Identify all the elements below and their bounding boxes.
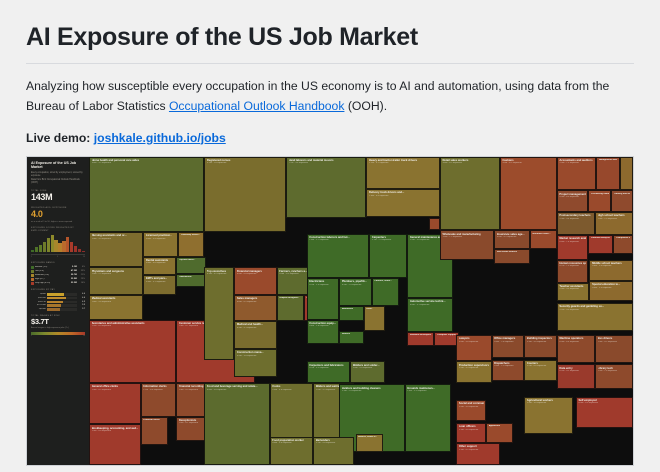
treemap-tile[interactable]: Other support0.3M · 6.2 exposure [456,443,500,465]
pay-bracket-label: >$100K [31,308,46,311]
legend-percent: 23% [78,278,85,281]
treemap-tile[interactable]: Security guards and gambling su...1.2M ·… [557,303,633,331]
treemap-tile-sublabel: 0.7M · 7.0 exposure [559,265,585,268]
treemap-tile-sublabel: 1.4M · 7.3 exposure [559,162,593,165]
color-scale-axis: 110 [31,335,85,338]
treemap-tile-label: Training and dev... [614,193,631,196]
treemap-tile-sublabel: 1.3M · 3.4 exposure [559,218,592,221]
legend-row[interactable]: Low (3-4)47.3M33% [31,270,85,273]
live-demo-line: Live demo: joshkale.github.io/jobs [26,131,634,145]
treemap-tile-sublabel: 1.6M · 4.9 exposure [369,195,437,198]
treemap-tile-sublabel: 4.0M · 5.8 exposure [207,389,267,392]
histogram-tick: 10 [83,256,85,259]
legend-swatch [31,266,34,269]
legend-row[interactable]: Minimal (1-2)9.1M6% [31,266,85,269]
treemap-tile-sublabel: 1.0M · 2.7 exposure [309,239,366,242]
treemap-tile-sublabel: 1.9M · 8.2 exposure [92,389,138,392]
legend-swatch [31,270,34,273]
pay-bracket-label: $75-100K [31,304,46,307]
total-jobs-value: 143M [31,193,85,202]
treemap-tile-label: Pharmacists [179,276,204,279]
exposure-by-pay-chart: <$30K4.4$30-50K4.6$50-75K4.3$75-100K3.9>… [31,293,85,311]
legend-swatch [31,278,34,281]
treemap-tile[interactable]: Market research analyst0.8M · 7.8 exposu… [557,235,589,260]
treemap-tile[interactable]: Wholesale and manufacturing1.6M · 7.2 ex… [440,230,494,259]
treemap-tile[interactable]: Real estate brokers0.4M · 6.8 exposure [494,249,529,264]
treemap-tile[interactable]: Purchasing manager0.6M · 7.1 exposure [588,190,611,212]
treemap-tile-label: Securities sales... [532,233,554,236]
treemap-tile-sublabel: 0.8M · 7.8 exposure [559,241,585,244]
pay-bar-row: >$100K3.7 [31,308,85,311]
readme-page: AI Exposure of the US Job Market Analyzi… [0,0,660,472]
treemap-tile-sublabel: 0.5M · 2.4 exposure [342,284,369,287]
pay-bar-track [47,301,77,304]
treemap-tile[interactable]: Sales managers0.6M · 6.2 exposure [234,295,276,321]
treemap-tile-sublabel: 0.3M · 3.1 exposure [146,281,173,284]
treemap-tile-label: Software developers [410,334,432,337]
treemap-tile-label: Graphic designers [279,297,301,300]
treemap-tile[interactable]: Postsecondary teachers1.3M · 3.4 exposur… [557,212,595,235]
histogram-bar [82,251,85,253]
treemap-tile[interactable]: Production supervisors0.5M · 5.5 exposur… [456,361,491,383]
treemap-tile-sublabel: 0.2M · 9.2 exposure [559,370,592,373]
histogram-bar [66,237,69,252]
treemap-tile-sublabel: 3.2M · 2.8 exposure [207,162,283,165]
exposure-legend: Minimal (1-2)9.1M6%Low (3-4)47.3M33%Mode… [31,266,85,285]
treemap-tile[interactable]: Construction laborers and hel...1.0M · 2… [307,234,370,279]
treemap-tile-sublabel: 3.6M · 6.2 exposure [442,162,497,165]
treemap-tile[interactable]: Registered nurses3.2M · 2.8 exposure [204,157,286,232]
treemap-tile-sublabel: 2.5M · 4.6 exposure [272,389,310,392]
treemap-tile-sublabel: 0.3M · 6.2 exposure [459,449,497,452]
treemap-tile[interactable]: Grounds maintenan...1.3M · 2.2 exposure [405,384,451,452]
treemap-tile-sublabel: 0.7M · 5.2 exposure [309,367,347,370]
treemap-tile[interactable]: Carpenters0.7M · 2.5 exposure [369,234,407,279]
histogram-bar [62,241,65,253]
treemap-canvas[interactable]: Home health and personal care aides3.6M … [89,157,633,465]
treemap-tile[interactable]: Loan officers0.3M · 8.0 exposure [456,423,486,443]
treemap-tile-sublabel: 0.4M · 4.4 exposure [353,367,383,370]
treemap-tile-label: Computer support [437,334,456,337]
legend-row[interactable]: Moderate (5-6)29.7M21% [31,274,85,277]
treemap-tile-label: Roofers [342,333,361,336]
treemap-tile-sublabel: 1.6M · 7.2 exposure [442,236,491,239]
histogram-tick: 1 [31,256,32,259]
treemap-tile[interactable]: Construction mana...0.5M · 3.8 exposure [234,349,276,377]
treemap-tile[interactable]: Tree associates0.3M · 5.2 exposure [429,218,440,230]
treemap-tile-sublabel: 0.2M · 6.0 exposure [527,365,554,368]
treemap-tile-sublabel: 0.4M · 4.6 exposure [146,262,173,265]
treemap-tile[interactable]: Bus drivers0.5M · 4.2 exposure [595,335,633,363]
treemap-tile-sublabel: 0.8M · 6.8 exposure [237,273,274,276]
treemap-tile[interactable]: Food and beverage serving and relate...4… [204,383,269,465]
treemap-tile-sublabel: 2.2M · 5.1 exposure [369,162,437,165]
legend-label-text: Minimal (1-2) [35,266,71,269]
exposure-histogram [31,235,85,255]
treemap-tile-sublabel: 0.4M · 2.8 exposure [309,325,336,328]
treemap-tile-sublabel: 1.3M · 2.2 exposure [407,390,448,393]
treemap-tile-sublabel: 0.9M · 3.2 exposure [279,273,306,276]
treemap-tile[interactable]: Social and community...0.4M · 4.4 exposu… [456,400,486,422]
treemap-tile-label: Social and community... [459,402,484,405]
treemap-tile[interactable]: HVAC0.4M · 2.9 exposure [364,306,386,331]
legend-swatch [31,274,34,277]
ooh-link[interactable]: Occupational Outlook Handbook [169,99,344,113]
histogram-bar [70,242,73,252]
treemap-tile-sublabel: 0.5M · 7.8 exposure [494,341,521,344]
treemap-tile[interactable]: EMTs and para...0.3M · 3.1 exposure [143,275,176,295]
treemap-tile-label: Machinists [342,308,361,311]
treemap-tile-label: HVAC [366,308,383,311]
treemap-tile-sublabel: 0.3M · 8.0 exposure [459,429,484,432]
treemap-tile[interactable]: Electricians0.7M · 2.3 exposure [307,278,340,320]
color-scale-tick: 10 [83,335,85,338]
treemap-tile[interactable]: Carpenters and fabricators0.7M · 5.2 exp… [307,361,351,383]
treemap-tile[interactable]: Financial managers0.8M · 6.8 exposure [234,267,276,295]
treemap-tile-sublabel: 0.7M · 4.8 exposure [316,442,352,445]
legend-percent: 21% [78,274,85,277]
treemap-tile[interactable]: Accountants and auditors1.4M · 7.3 expos… [557,157,596,191]
treemap-tile[interactable]: Physical thera...0.3M · 2.4 exposure [176,257,206,274]
treemap-tile[interactable]: Financial clerks0.9M · 8.3 exposure [141,417,168,445]
treemap-tile-label: Building inspectors [527,337,554,340]
legend-value: 29.7M [71,274,77,277]
treemap-tile-sublabel: 2.3M · 2.4 exposure [342,390,402,393]
treemap-tile-label: Compliance office [616,237,630,240]
color-scale-tick: 1 [31,335,32,338]
treemap-tile-sublabel: 0.4M · 4.4 exposure [459,406,484,409]
treemap-tile[interactable]: Human resources spec...0.7M · 7.0 exposu… [557,260,589,283]
pay-bar-row: $30-50K4.6 [31,297,85,300]
treemap-tile-sublabel: 1.0M · 8.1 exposure [179,422,206,425]
treemap-tile-sublabel: 2.2M · 8.4 exposure [92,325,174,328]
treemap-tile[interactable]: Retail sales workers3.6M · 6.2 exposure [440,157,500,231]
page-description: Analyzing how susceptible every occupati… [26,77,634,117]
pay-bracket-label: <$30K [31,293,46,296]
treemap-tile[interactable]: Financial analysts0.4M · 7.6 exposure [588,235,613,253]
treemap-tile-sublabel: 0.4M · 6.6 exposure [559,341,592,344]
pay-bar-fill [47,304,61,307]
treemap-tile[interactable]: Software developers1.8M · 5.9 exposure [407,332,434,346]
pay-label: EXPOSURE BY PAY [31,289,85,292]
legend-label-text: Low (3-4) [35,270,70,273]
treemap-tile[interactable]: Lawyers0.8M · 5.8 exposure [456,335,491,361]
treemap-tile[interactable]: Appraisers0.1M · 7.4 exposure [486,423,513,443]
treemap-tile[interactable]: Automotive service techni...0.8M · 3.1 e… [407,298,453,332]
pay-bar-value: 4.3 [78,301,85,304]
treemap-tile[interactable]: Dental assistants0.4M · 4.6 exposure [143,257,176,275]
treemap-tile[interactable]: Building inspectors0.3M · 4.0 exposure [524,335,557,358]
pay-bar-track [47,293,77,296]
treemap-tile-sublabel: 0.6M · 2.8 exposure [592,265,630,268]
sidebar-subtitle-1: Every occupation, sized by employment, s… [31,172,85,179]
legend-row[interactable]: High (6-7)33.5M23% [31,278,85,281]
treemap-tile[interactable]: Graphic designers0.3M · 7.3 exposure [277,295,304,321]
treemap-tile-sublabel: 0.4M · 6.4 exposure [578,402,630,405]
treemap-tile-label: Physical thera... [179,259,204,262]
title-divider [26,63,634,64]
treemap-tile[interactable]: Roofers0.2M · 2.2 exposure [339,331,363,345]
treemap-tile-sublabel: 0.6M · 6.2 exposure [237,301,274,304]
treemap-tile[interactable]: Bookkeeping, accounting, and aud...1.5M … [89,424,141,464]
histogram-bar [78,249,81,252]
treemap-tile-label: Pharmacy techni... [181,234,202,237]
treemap-tile-label: Real estate brokers [497,251,527,254]
pay-bar-fill [47,297,66,300]
treemap-tile[interactable]: Medical and health...0.5M · 4.1 exposure [234,321,276,349]
histogram-bar [39,245,42,252]
histogram-bar [74,246,77,252]
treemap-tile[interactable]: Special education te...0.5M · 2.9 exposu… [589,281,633,301]
treemap-tile-sublabel: 0.3M · 4.0 exposure [527,341,554,344]
treemap-tile[interactable]: Information clerks1.1M · 8.0 exposure [141,383,176,417]
treemap-tile-sublabel: 3.5M · 4.2 exposure [207,273,232,276]
treemap-tile[interactable]: Cashiers3.3M · 8.1 exposure [500,157,557,231]
treemap-tile[interactable]: Securities sales...0.5M · 7.6 exposure [530,230,557,248]
treemap-tile[interactable]: Farmers, ranchers a...0.9M · 3.2 exposur… [277,267,310,295]
sidebar-subtitle-2: Data from BLS Occupational Outlook Handb… [31,179,85,186]
treemap-tile[interactable]: Management analysts1.0M · 6.4 exposure [596,157,620,191]
wages-value: $3.7T [31,318,85,326]
treemap-tile[interactable]: Secretaries and administrative assistant… [89,320,176,383]
pay-bar-track [47,297,77,300]
treemap-tile-label: Appraisers [489,425,511,428]
treemap-tile-label: Painters, const... [374,280,396,283]
pay-bar-row: <$30K4.4 [31,293,85,296]
treemap-tile-label: Financial analysts [591,237,611,240]
pay-bracket-label: $30-50K [31,297,46,300]
treemap-tile-sublabel: 3.3M · 8.1 exposure [502,162,554,165]
legend-value: 9.1M [72,266,77,269]
treemap-tile[interactable]: Hand laborers and material movers2.7M · … [286,157,367,219]
treemap-tile[interactable]: Bartenders0.7M · 4.8 exposure [313,437,354,465]
pay-bar-track [47,308,77,311]
pay-bar-fill [47,301,63,304]
treemap-tile[interactable]: Insurance sales age...0.6M · 8.2 exposur… [494,230,529,248]
legend-percent: 6% [78,266,85,269]
treemap-tile[interactable]: Heavy and tractor-trailer truck drivers2… [366,157,439,189]
treemap-tile[interactable]: General office clerks1.9M · 8.2 exposure [89,383,141,425]
legend-value: 33.5M [71,278,77,281]
treemap-tile-sublabel: 0.8M · 5.6 exposure [92,301,141,304]
legend-label-text: High (6-7) [35,278,70,281]
treemap-tile-label: Market research analyst [559,237,585,240]
pay-bar-value: 3.9 [78,304,85,307]
treemap-tile[interactable]: Painters, const...0.3M · 2.6 exposure [372,278,399,306]
treemap-tile[interactable]: Physicians and surgeons0.8M · 2.2 exposu… [89,267,143,295]
pay-bar-track [47,304,77,307]
legend-row[interactable]: Very high (8-10)23.3M16% [31,282,85,285]
treemap-tile[interactable]: Pharmacists0.3M · 5.4 exposure [176,274,206,288]
avg-exposure-value: 4.0 [31,210,85,219]
treemap-tile[interactable]: Delivery truck drivers and...1.6M · 4.9 … [366,189,439,217]
treemap-tile[interactable]: Licensed practical...0.6M · 3.4 exposure [143,232,178,257]
treemap-tile-label: Management analysts [599,159,618,162]
treemap-tile-sublabel: 0.9M · 3.4 exposure [527,402,571,405]
avg-exposure-note: on a scale of 1 to 10, higher = more exp… [31,221,85,224]
treemap-tile[interactable]: Library tech0.1M · 7.8 exposure [595,364,633,389]
treemap-tile[interactable]: Teacher assistants1.4M · 3.5 exposure [557,283,590,301]
treemap-tile[interactable]: Welders and solder...0.4M · 4.4 exposure [350,361,385,383]
treemap-tile[interactable]: Pharmacy techni...0.5M · 5.8 exposure [178,232,204,257]
live-demo-label: Live demo: [26,131,94,145]
treemap-tile[interactable]: Plumbers, pipefitt...0.5M · 2.4 exposure [339,278,372,306]
treemap-tile-label: Waiters, cooks a... [358,436,380,439]
treemap-tile-sublabel: 0.5M · 4.1 exposure [237,327,274,330]
treemap-tile[interactable]: Couriers0.2M · 6.0 exposure [524,360,557,382]
histogram-label: EXPOSURE SCORE WEIGHTED BY EMPLOYMENT [31,227,85,233]
treemap-tile[interactable]: Food preparation worker0.9M · 5.6 exposu… [270,437,314,465]
pay-bar-fill [47,293,64,296]
treemap-tile-sublabel: 1.4M · 3.5 exposure [559,288,586,291]
treemap-sidebar: AI Exposure of the US Job Market Every o… [27,157,89,465]
treemap-tile-sublabel: 2.7M · 5.4 exposure [289,162,364,165]
treemap-tile[interactable]: Compliance office0.4M · 7.4 exposure [613,235,633,253]
treemap-tile-label: Purchasing manager [591,193,609,196]
treemap-tile-sublabel: 1.4M · 3.0 exposure [92,238,141,241]
pay-bar-value: 4.6 [78,297,85,300]
treemap-tile[interactable]: Agricultural workers0.9M · 3.4 exposure [524,397,573,434]
treemap-tile[interactable]: Medical assistants0.8M · 5.6 exposure [89,295,143,320]
treemap-tile-sublabel: 0.5M · 3.8 exposure [237,355,274,358]
histogram-bar [51,235,54,252]
legend-label-text: Very high (8-10) [35,282,70,285]
pay-bar-value: 4.4 [78,293,85,296]
legend-percent: 16% [78,282,85,285]
legend-label-text: Moderate (5-6) [35,274,70,277]
treemap-tile-sublabel: 0.8M · 5.8 exposure [459,341,489,344]
treemap-tile[interactable]: Kindergarten and element...1.4M · 2.6 ex… [620,157,633,191]
treemap-tile-sublabel: 0.7M · 2.5 exposure [372,239,405,242]
treemap-tile-sublabel: 0.9M · 5.6 exposure [272,442,310,445]
legend-value: 23.3M [71,282,77,285]
treemap-tile-sublabel: 0.6M · 8.2 exposure [497,236,527,239]
histogram-axis: 1510 [31,256,85,259]
treemap-tile[interactable]: Nursing assistants and or...1.4M · 3.0 e… [89,232,143,267]
pay-bracket-label: $50-75K [31,301,46,304]
histogram-bar [43,242,46,253]
treemap-tile[interactable]: Waiters, cooks a...0.4M · 5.0 exposure [356,434,383,452]
treemap-tile-sublabel: 0.5M · 4.2 exposure [598,341,631,344]
treemap-tile[interactable]: Home health and personal care aides3.6M … [89,157,204,232]
treemap-tile[interactable]: Top executives3.5M · 4.2 exposure [204,267,234,359]
treemap-tile[interactable]: Project management sp...0.9M · 6.0 expos… [557,190,589,212]
wages-note: Annual wages in high-exposure jobs (7+) [31,327,85,330]
pay-bar-value: 3.7 [78,308,85,311]
treemap-tile[interactable]: Office managers0.5M · 7.8 exposure [492,335,525,358]
treemap-tile[interactable]: Training and dev...0.4M · 6.2 exposure [611,190,633,212]
treemap-tile[interactable]: Machine operators0.4M · 6.6 exposure [557,335,595,363]
treemap-tile-sublabel: 1.2M · 4.0 exposure [559,309,630,312]
description-text-part2: (OOH). [344,99,387,113]
page-title: AI Exposure of the US Job Market [26,22,634,52]
legend-percent: 33% [78,270,85,273]
treemap-tile-sublabel: 1.1M · 8.0 exposure [143,389,173,392]
pay-bar-fill [47,308,60,311]
treemap-tile-sublabel: 0.9M · 6.0 exposure [559,196,585,199]
treemap-tile[interactable]: Data entry0.2M · 9.2 exposure [557,364,595,389]
treemap-tile[interactable]: Machinists0.3M · 4.2 exposure [339,306,363,321]
treemap-tile-sublabel: 0.5M · 2.9 exposure [592,287,630,290]
pay-bar-row: $75-100K3.9 [31,304,85,307]
histogram-bar [35,247,38,252]
treemap-tile-label: Postsecondary teachers [559,214,592,217]
histogram-bar [58,243,61,252]
live-demo-link[interactable]: joshkale.github.io/jobs [94,131,226,145]
treemap-tile[interactable]: Middle school teachers0.6M · 2.8 exposur… [589,260,633,282]
treemap-tile[interactable]: High school teachers1.0M · 2.9 exposure [595,212,633,235]
legend-label: EXPOSURE BANDS [31,262,85,265]
treemap-tile-sublabel: 0.5M · 5.5 exposure [459,367,489,370]
histogram-bar [31,250,34,252]
legend-value: 47.3M [71,270,77,273]
treemap-tile[interactable]: Self employed0.4M · 6.4 exposure [576,397,633,428]
treemap-tile-sublabel: 0.8M · 2.2 exposure [92,273,141,276]
histogram-bar [47,238,50,253]
treemap-tile-label: Licensed practical... [146,234,176,237]
treemap-tile-sublabel: 1.0M · 2.9 exposure [598,218,631,221]
treemap-tile-sublabel: 0.1M · 7.8 exposure [598,370,631,373]
histogram-bar [54,240,57,253]
treemap-tile-label: Financial clerks [143,419,165,422]
treemap-tile-sublabel: 0.8M · 3.1 exposure [410,304,451,307]
treemap-figure[interactable]: AI Exposure of the US Job Market Every o… [26,156,634,466]
legend-swatch [31,282,34,285]
treemap-tile[interactable]: Construction equip...0.4M · 2.8 exposure [307,320,340,345]
histogram-tick: 5 [57,256,58,259]
treemap-tile-sublabel: 3.6M · 3.2 exposure [92,162,202,165]
treemap-tile-sublabel: 0.7M · 2.3 exposure [309,284,336,287]
sidebar-title: AI Exposure of the US Job Market [31,161,85,170]
treemap-tile-sublabel: 0.6M · 3.4 exposure [146,238,176,241]
treemap-tile-sublabel: 0.3M · 7.2 exposure [494,365,521,368]
pay-bar-row: $50-75K4.3 [31,301,85,304]
treemap-tile[interactable]: Dispatchers0.3M · 7.2 exposure [492,360,525,382]
treemap-tile-sublabel: 1.5M · 8.6 exposure [92,430,138,433]
